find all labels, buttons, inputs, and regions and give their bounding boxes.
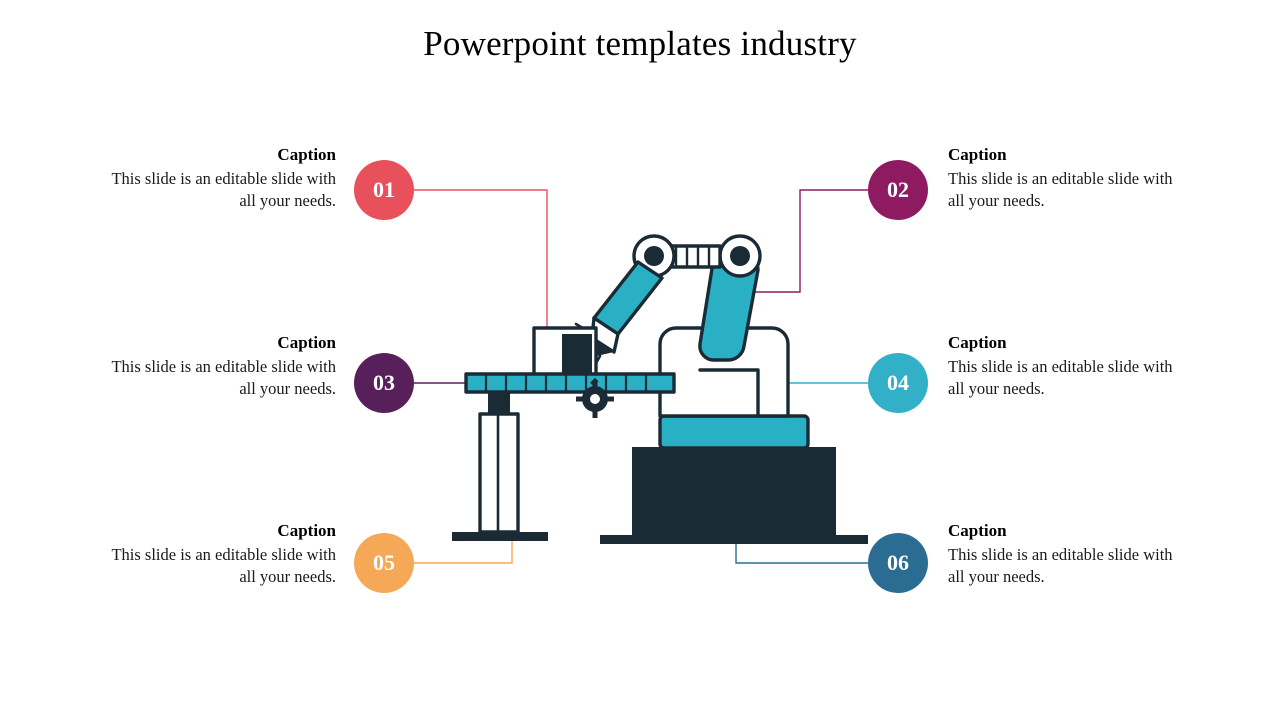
caption-block-05: Caption This slide is an editable slide … [96, 521, 336, 588]
badge-04[interactable]: 04 [868, 353, 928, 413]
caption-text-06: This slide is an editable slide with all… [948, 544, 1188, 588]
badge-05-number: 05 [373, 550, 395, 576]
badge-06-number: 06 [887, 550, 909, 576]
caption-block-06: Caption This slide is an editable slide … [948, 521, 1188, 588]
caption-title-02: Caption [948, 145, 1188, 165]
badge-04-number: 04 [887, 370, 909, 396]
caption-text-04: This slide is an editable slide with all… [948, 356, 1188, 400]
caption-block-04: Caption This slide is an editable slide … [948, 333, 1188, 400]
caption-title-03: Caption [96, 333, 336, 353]
caption-block-03: Caption This slide is an editable slide … [96, 333, 336, 400]
caption-text-05: This slide is an editable slide with all… [96, 544, 336, 588]
badge-01[interactable]: 01 [354, 160, 414, 220]
badge-02-number: 02 [887, 177, 909, 203]
caption-title-05: Caption [96, 521, 336, 541]
caption-title-04: Caption [948, 333, 1188, 353]
slide-canvas: Powerpoint templates industry [0, 0, 1280, 720]
caption-title-06: Caption [948, 521, 1188, 541]
caption-text-03: This slide is an editable slide with all… [96, 356, 336, 400]
caption-block-02: Caption This slide is an editable slide … [948, 145, 1188, 212]
badge-06[interactable]: 06 [868, 533, 928, 593]
caption-title-01: Caption [96, 145, 336, 165]
badge-01-number: 01 [373, 177, 395, 203]
badge-05[interactable]: 05 [354, 533, 414, 593]
badge-03-number: 03 [373, 370, 395, 396]
caption-text-02: This slide is an editable slide with all… [948, 168, 1188, 212]
caption-block-01: Caption This slide is an editable slide … [96, 145, 336, 212]
badge-03[interactable]: 03 [354, 353, 414, 413]
badge-02[interactable]: 02 [868, 160, 928, 220]
caption-text-01: This slide is an editable slide with all… [96, 168, 336, 212]
